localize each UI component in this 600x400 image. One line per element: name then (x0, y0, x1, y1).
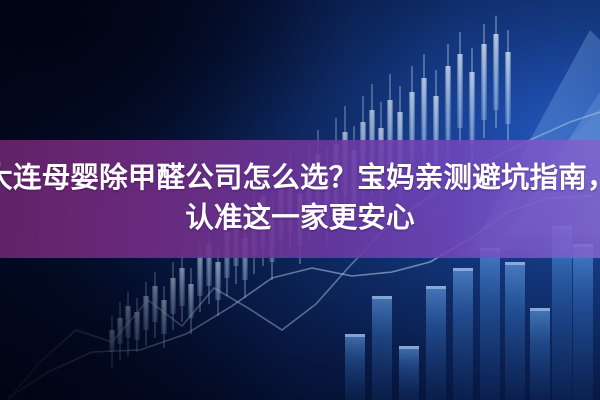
headline-line-1: 大连母婴除甲醛公司怎么选？宝妈亲测避坑指南， (0, 160, 600, 198)
headline-line-2: 认准这一家更安心 (185, 200, 415, 238)
headline-band: 大连母婴除甲醛公司怎么选？宝妈亲测避坑指南， 认准这一家更安心 (0, 140, 600, 258)
banner-image: 大连母婴除甲醛公司怎么选？宝妈亲测避坑指南， 认准这一家更安心 (0, 0, 600, 400)
